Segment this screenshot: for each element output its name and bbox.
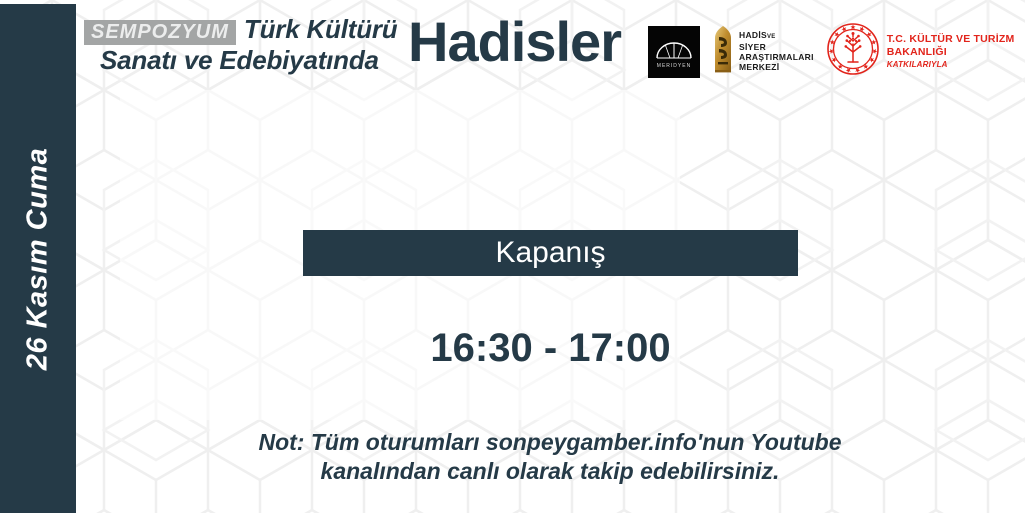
subtitle-line-1: Türk Kültürü <box>244 16 398 43</box>
hadis-siyer-emblem-icon <box>712 25 734 78</box>
date-label: 26 Kasım Cuma <box>22 147 55 370</box>
logo-group: MERIDYEN <box>648 22 1014 81</box>
hadis-line-1: HADİS <box>739 30 767 40</box>
session-title-banner: Kapanış <box>303 230 798 276</box>
bakanlik-line-1: T.C. KÜLTÜR VE TURİZM <box>887 33 1015 45</box>
footer-note-line-2: kanalından canlı olarak takip edebilirsi… <box>190 457 910 486</box>
date-sidebar: 26 Kasım Cuma <box>0 4 76 513</box>
symposium-poster: 26 Kasım Cuma SEMPOZYUM Türk Kültürü San… <box>0 0 1025 513</box>
hadis-line-4: MERKEZİ <box>739 62 779 72</box>
session-time: 16:30 - 17:00 <box>303 326 798 371</box>
hadis-line-3: ARAŞTIRMALARI <box>739 52 814 62</box>
footer-note-line-1: Not: Tüm oturumları sonpeygamber.info'nu… <box>190 428 910 457</box>
bakanlik-line-3: KATKILARIYLA <box>887 60 1015 69</box>
hadis-siyer-logo: HADİSVE SİYER ARAŞTIRMALARI MERKEZİ <box>712 25 814 78</box>
footer-note: Not: Tüm oturumları sonpeygamber.info'nu… <box>190 428 910 487</box>
page-title: Hadisler <box>408 14 621 70</box>
bakanlik-logo-text: T.C. KÜLTÜR VE TURİZM BAKANLIĞI KATKILAR… <box>887 33 1015 69</box>
meridyen-logo: MERIDYEN <box>648 26 700 78</box>
session-title: Kapanış <box>495 238 605 268</box>
hadis-siyer-logo-text: HADİSVE SİYER ARAŞTIRMALARI MERKEZİ <box>739 30 814 72</box>
hadis-line-1-suffix: VE <box>767 34 776 40</box>
meridyen-logo-label: MERIDYEN <box>648 63 700 69</box>
kultur-turizm-bakanligi-logo: T.C. KÜLTÜR VE TURİZM BAKANLIĞI KATKILAR… <box>826 22 1015 81</box>
hadis-line-2: SİYER <box>739 42 766 52</box>
bakanlik-line-2: BAKANLIĞI <box>887 46 1015 58</box>
poster-header: SEMPOZYUM Türk Kültürü Sanatı ve Edebiya… <box>76 0 1025 100</box>
meridyen-dome-icon <box>648 26 700 78</box>
sempozyum-badge: SEMPOZYUM <box>84 20 236 45</box>
bakanlik-seal-icon <box>826 22 880 81</box>
